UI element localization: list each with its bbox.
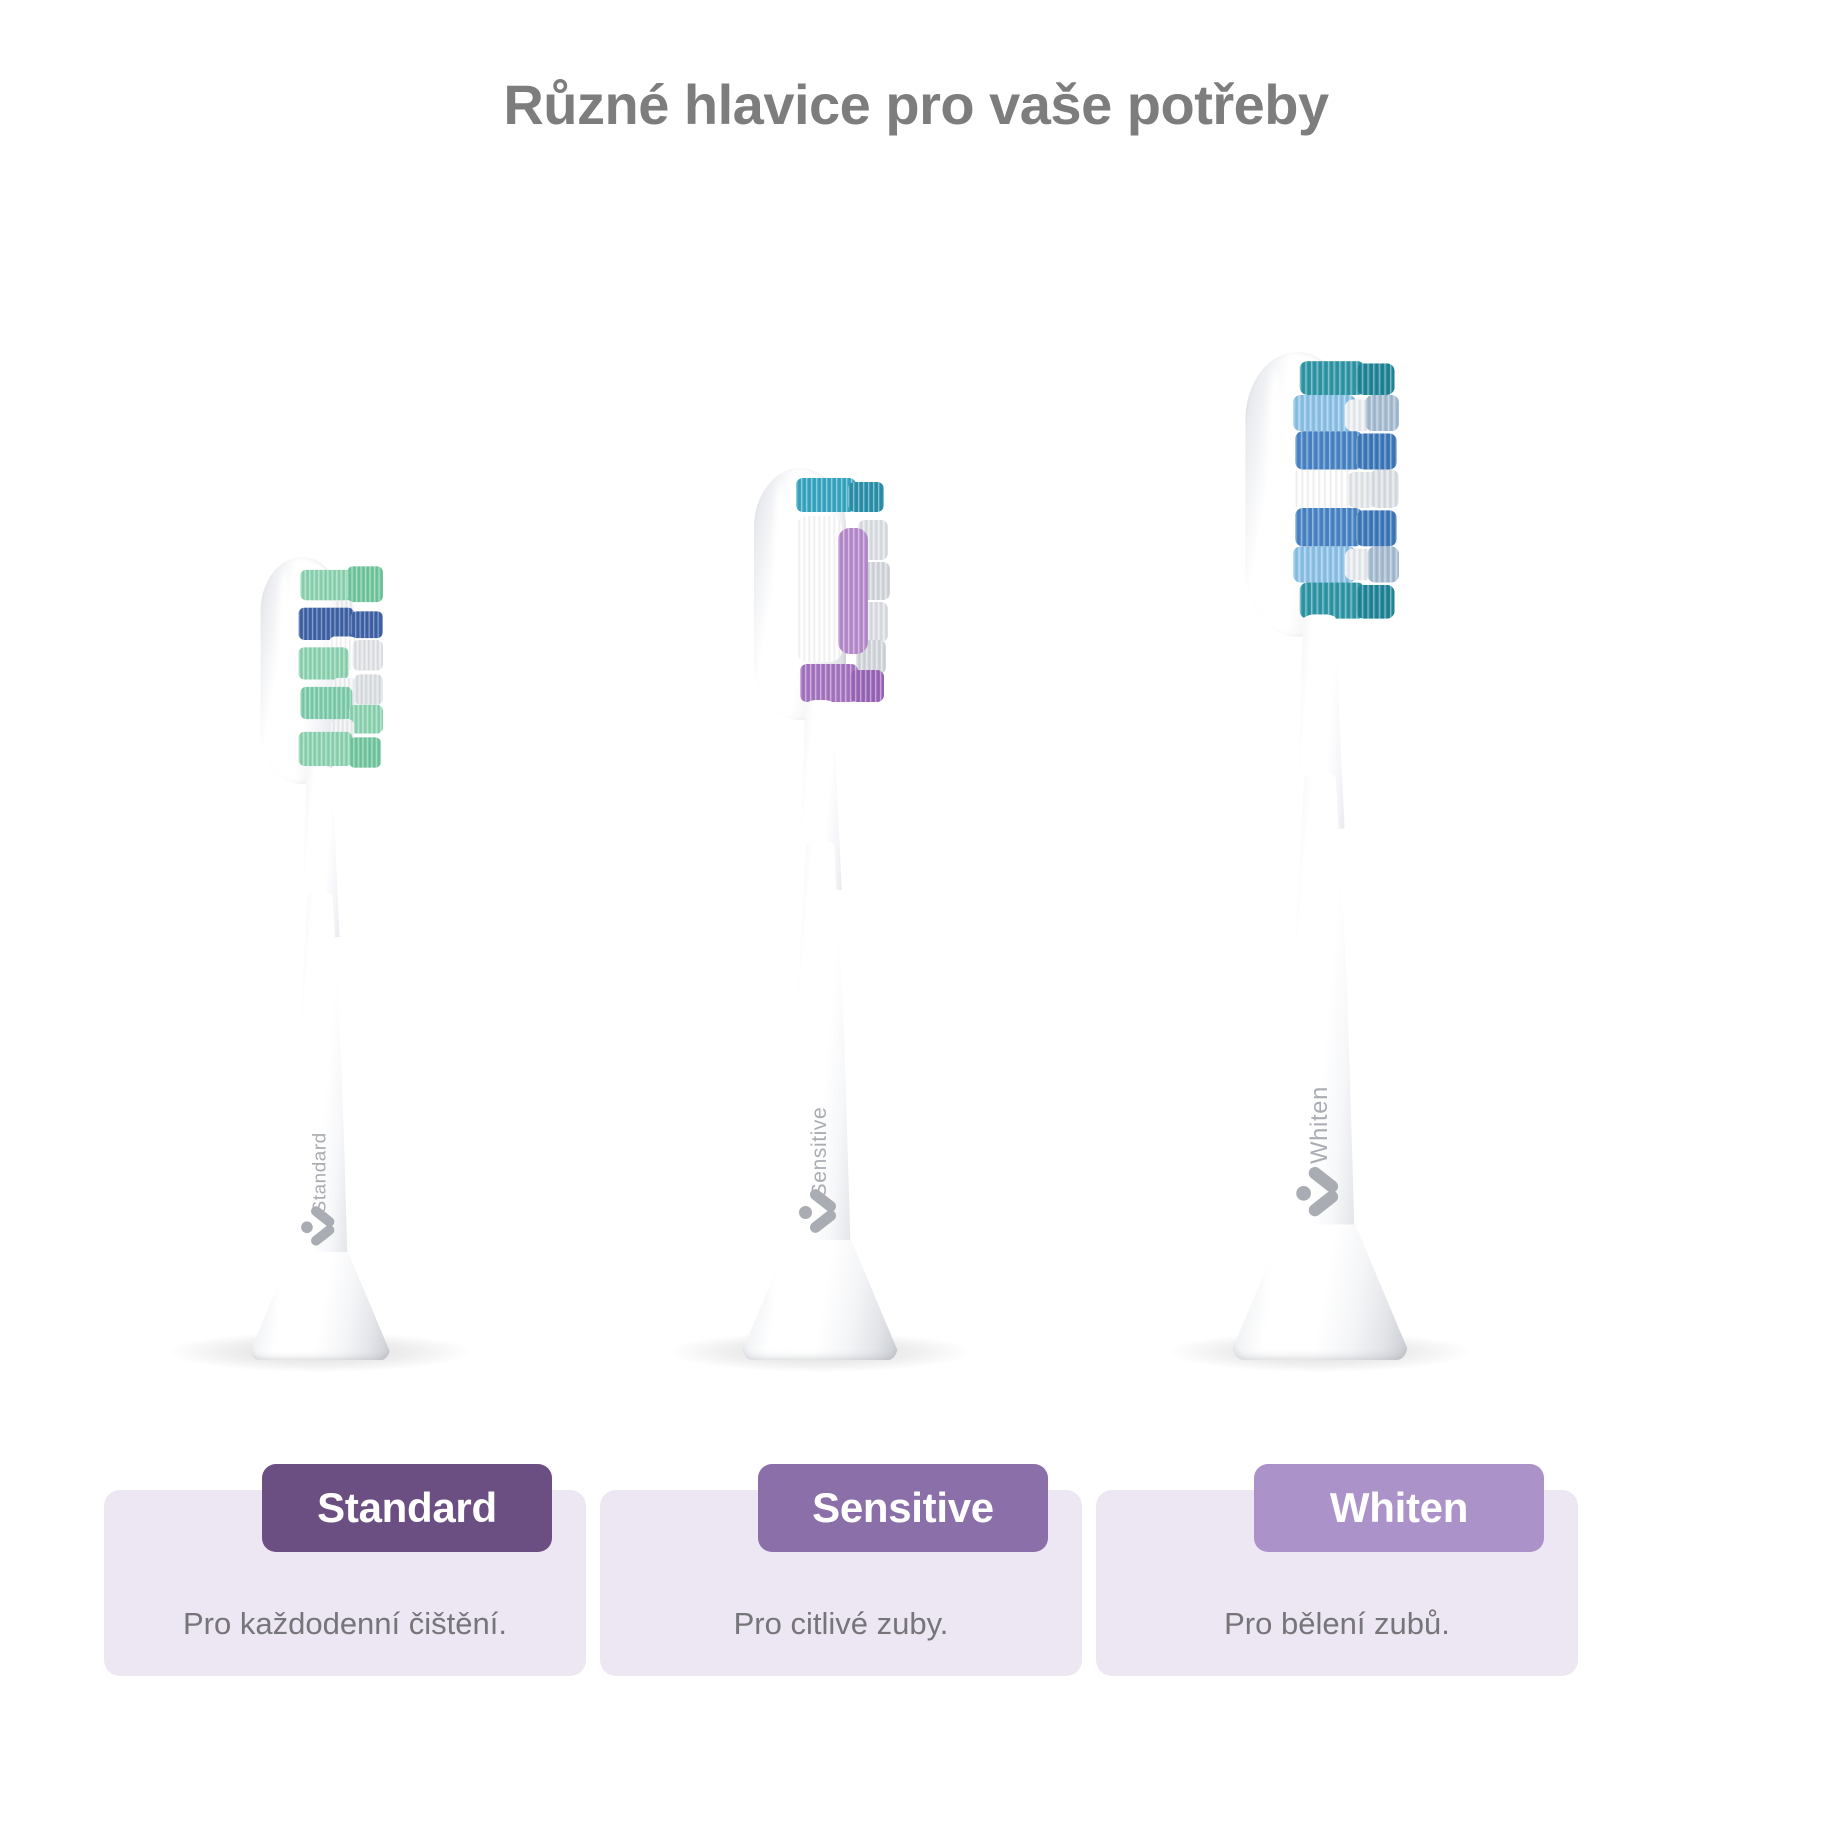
infographic-page: Různé hlavice pro vaše potřeby <box>0 0 1832 1832</box>
card-description: Pro bělení zubů. <box>1096 1606 1578 1642</box>
bristle-tuft <box>354 674 383 705</box>
bristle-tuft <box>298 608 354 640</box>
badge-label: Sensitive <box>812 1484 994 1532</box>
bristle-tuft <box>300 570 352 601</box>
bristle-tuft <box>1367 546 1399 582</box>
bristle-tuft <box>298 732 352 766</box>
bristle-tuft <box>850 670 884 702</box>
badge-label: Standard <box>317 1484 497 1532</box>
bristle-tuft <box>1356 510 1397 546</box>
card-description: Pro citlivé zuby. <box>600 1606 1082 1642</box>
brush-head-top <box>754 468 886 720</box>
bristle-tuft <box>349 737 381 768</box>
product-sensitive: Sensitive <box>610 330 1030 1390</box>
bristle-field <box>1293 361 1401 628</box>
info-card-whiten: Whiten Pro bělení zubů. <box>1096 1490 1578 1676</box>
bristle-tuft <box>298 647 348 679</box>
bristle-tuft <box>1356 363 1394 395</box>
bristle-tuft <box>1356 585 1394 619</box>
bristle-tuft <box>838 528 868 654</box>
brush-base <box>742 1240 898 1360</box>
bristle-tuft <box>1370 470 1399 508</box>
brand-chevron-icon <box>799 1192 841 1232</box>
bristle-tuft <box>1295 431 1363 469</box>
status-badge: Sensitive <box>758 1464 1048 1552</box>
bristle-tuft <box>1295 508 1363 546</box>
brush-base <box>250 1252 390 1360</box>
bristle-tuft <box>1293 470 1354 508</box>
bristle-field <box>298 564 384 776</box>
bristle-tuft <box>848 482 884 512</box>
bristle-tuft <box>351 611 383 638</box>
brand-chevron-icon <box>301 1209 339 1245</box>
brush-head-top <box>261 557 380 784</box>
bristle-tuft <box>347 566 383 602</box>
engraved-label: Standard <box>309 1132 331 1213</box>
info-card-standard: Standard Pro každodenní čištění. <box>104 1490 586 1676</box>
bristle-tuft <box>1365 395 1399 431</box>
product-row: Standard <box>0 330 1832 1390</box>
bristle-tuft <box>796 478 856 512</box>
engraved-label: Whiten <box>1306 1086 1333 1164</box>
bristle-tuft <box>1356 433 1397 469</box>
bristle-tuft <box>796 516 842 662</box>
bristle-field <box>796 476 892 712</box>
product-standard: Standard <box>110 330 530 1390</box>
brush-head-top <box>1245 352 1394 637</box>
badge-label: Whiten <box>1330 1484 1468 1532</box>
brush-base <box>1232 1224 1408 1360</box>
card-description: Pro každodenní čištění. <box>104 1606 586 1642</box>
page-title: Různé hlavice pro vaše potřeby <box>0 72 1832 137</box>
bristle-tuft <box>352 640 383 671</box>
info-card-sensitive: Sensitive Pro citlivé zuby. <box>600 1490 1082 1676</box>
bristle-tuft <box>300 687 352 719</box>
info-card-row: Standard Pro každodenní čištění. Sensiti… <box>0 1468 1832 1708</box>
brand-chevron-icon <box>1296 1170 1343 1215</box>
engraved-label: Sensitive <box>808 1107 832 1198</box>
status-badge: Standard <box>262 1464 552 1552</box>
status-badge: Whiten <box>1254 1464 1544 1552</box>
product-whiten: Whiten <box>1110 330 1530 1390</box>
